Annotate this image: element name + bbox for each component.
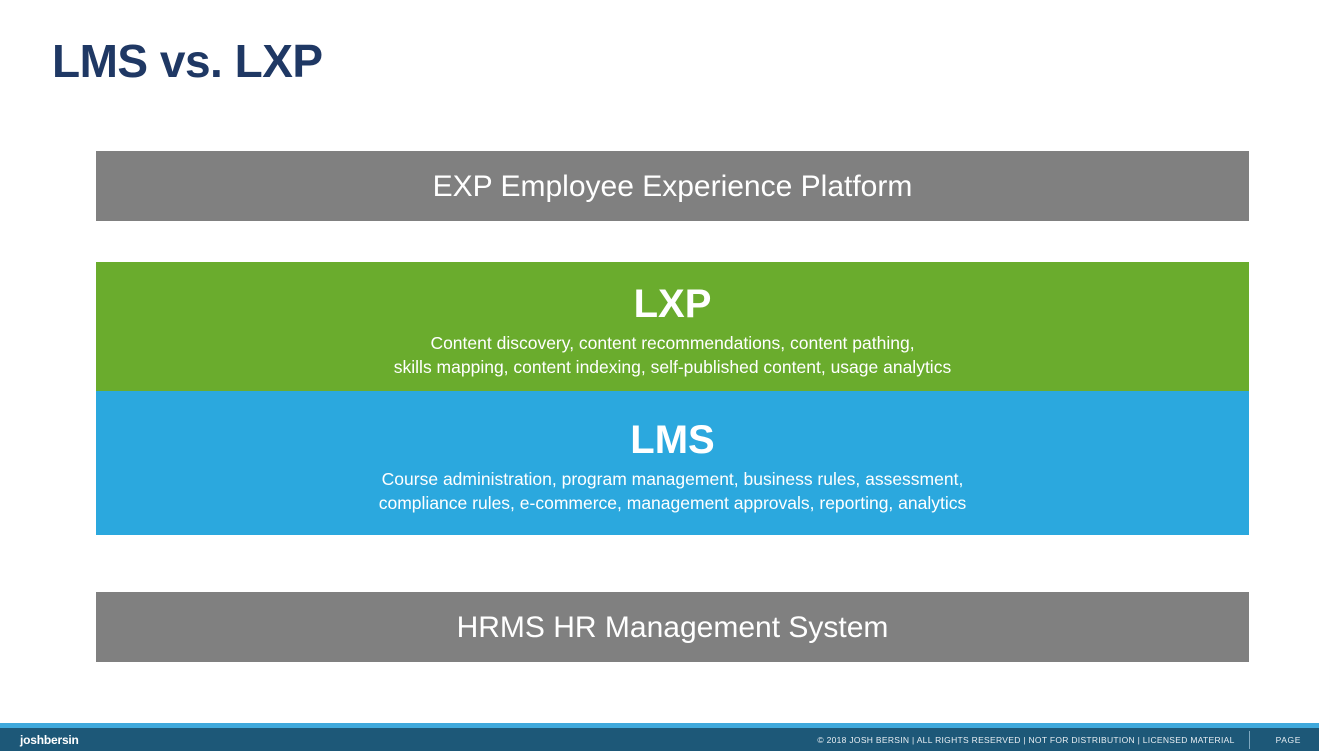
- stack-gap-upper: [96, 221, 1249, 262]
- layer-hrms-title: HRMS HR Management System: [457, 611, 889, 644]
- layer-lxp-description-line-1: Content discovery, content recommendatio…: [430, 331, 914, 355]
- layer-lms-title: LMS: [630, 417, 714, 463]
- layer-lxp-description-line-2: skills mapping, content indexing, self-p…: [394, 355, 951, 379]
- page-title: LMS vs. LXP: [52, 36, 323, 87]
- layer-lms: LMS Course administration, program manag…: [96, 391, 1249, 535]
- layer-stack-diagram: EXP Employee Experience Platform LXP Con…: [96, 151, 1249, 662]
- footer-copyright-text: © 2018 JOSH BERSIN | ALL RIGHTS RESERVED…: [817, 735, 1248, 745]
- footer-page-label: PAGE: [1250, 735, 1319, 745]
- slide-footer: joshbersin © 2018 JOSH BERSIN | ALL RIGH…: [0, 723, 1319, 751]
- slide-canvas: LMS vs. LXP EXP Employee Experience Plat…: [0, 0, 1319, 751]
- footer-bar: joshbersin © 2018 JOSH BERSIN | ALL RIGH…: [0, 728, 1319, 751]
- layer-lms-description-line-2: compliance rules, e-commerce, management…: [379, 491, 967, 515]
- footer-right-group: © 2018 JOSH BERSIN | ALL RIGHTS RESERVED…: [817, 728, 1319, 751]
- layer-lms-description-line-1: Course administration, program managemen…: [382, 467, 964, 491]
- layer-lxp: LXP Content discovery, content recommend…: [96, 262, 1249, 391]
- footer-logo: joshbersin: [20, 733, 79, 747]
- layer-hrms: HRMS HR Management System: [96, 592, 1249, 662]
- layer-exp: EXP Employee Experience Platform: [96, 151, 1249, 221]
- stack-gap-lower: [96, 535, 1249, 592]
- layer-exp-title: EXP Employee Experience Platform: [433, 170, 913, 203]
- layer-lxp-title: LXP: [634, 281, 712, 327]
